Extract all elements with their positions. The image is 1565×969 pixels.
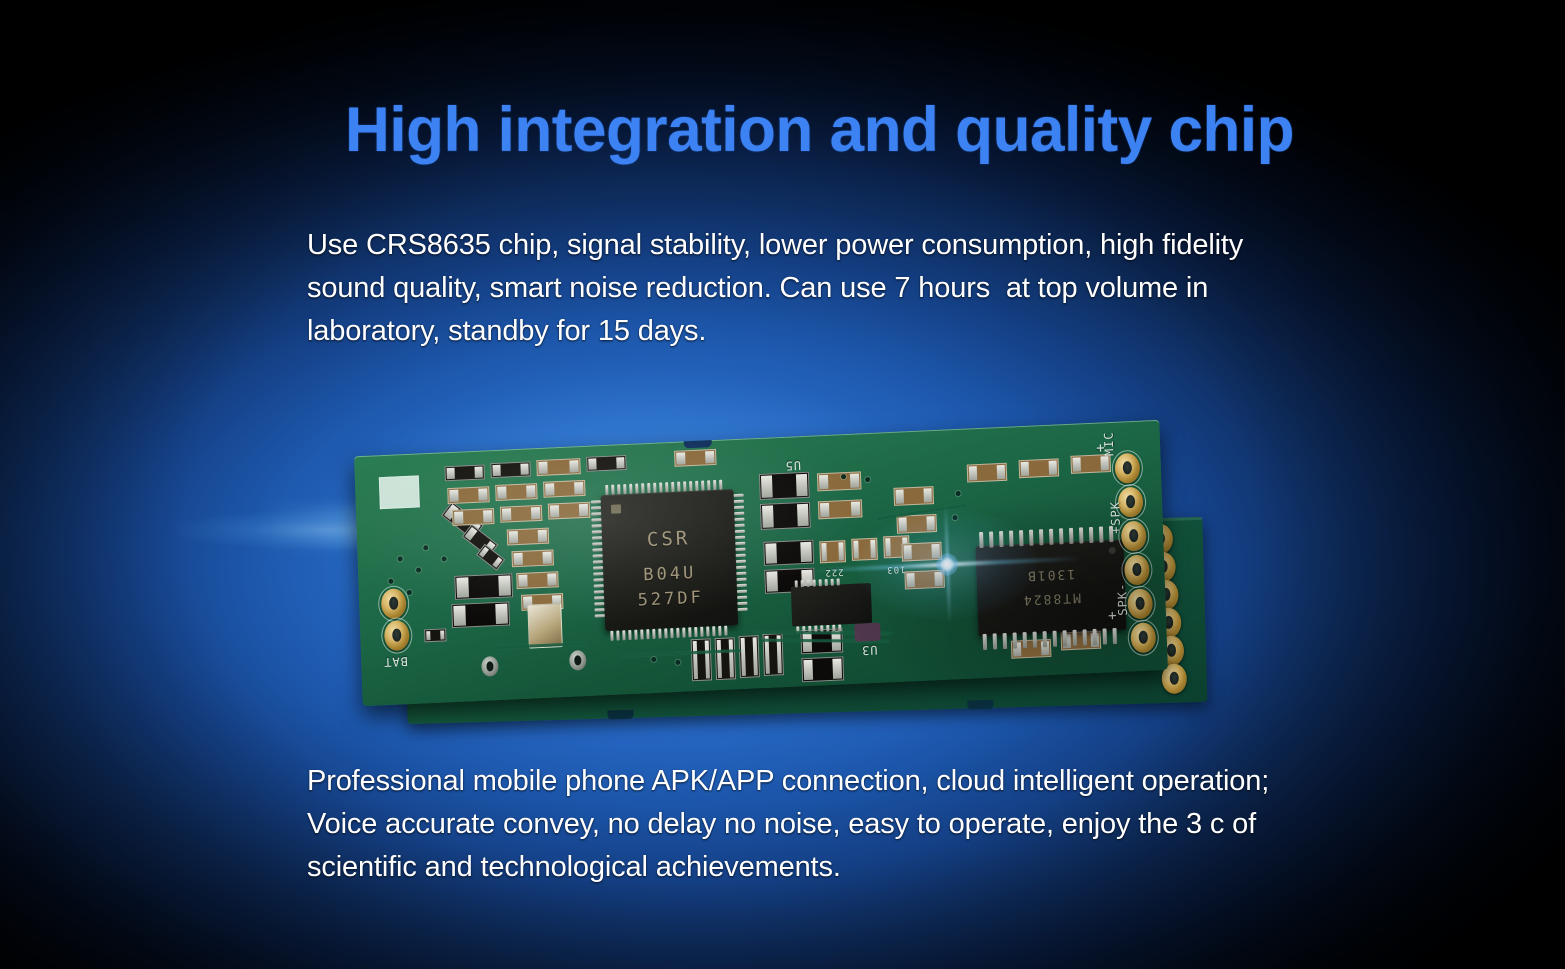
pcb-front-board: BAT CSR B04U 527DF (354, 420, 1168, 706)
smd-component (904, 570, 945, 590)
pin1-marker-icon (611, 504, 621, 513)
smd-component-large (451, 601, 510, 628)
smd-component (507, 528, 550, 546)
top-paragraph-line-1: Use CRS8635 chip, signal stability, lowe… (307, 224, 1317, 267)
smd-component (500, 505, 543, 523)
gold-pad-mic-plus (1114, 453, 1140, 484)
via (388, 579, 393, 584)
top-description-paragraph: Use CRS8635 chip, signal stability, lowe… (307, 224, 1317, 353)
bottom-paragraph-line-3: scientific and technological achievement… (307, 846, 1327, 889)
smd-component (818, 499, 863, 519)
smd-component (476, 544, 505, 571)
smd-component (817, 471, 862, 491)
via (956, 491, 961, 496)
smd-component (901, 542, 942, 562)
front-board-notch (684, 439, 712, 448)
smd-component (715, 637, 736, 680)
smd-component (674, 449, 717, 467)
smd-component (967, 463, 1008, 483)
smd-component (896, 514, 937, 534)
silkscreen-component-code: 103 (886, 563, 906, 574)
chip-marking-line-1: CSR (602, 525, 736, 553)
gold-pad-spk-minus (1127, 588, 1153, 619)
slide-canvas: High integration and quality chip Use CR… (0, 0, 1565, 969)
back-board-notch-left (607, 710, 633, 720)
gold-pad-spk-plus (1121, 521, 1147, 552)
smd-component (691, 638, 712, 681)
via (675, 660, 680, 665)
mounting-hole (569, 650, 587, 671)
smd-component-large (760, 502, 811, 530)
sop-marking-line-1: 1301B (976, 564, 1124, 586)
smd-component (536, 458, 581, 476)
silkscreen-spk-plus-label: +SPK (1108, 501, 1123, 535)
smd-component (739, 635, 760, 678)
silkscreen-u3-label: U3 (861, 643, 878, 658)
via (407, 590, 412, 595)
smd-component (543, 480, 586, 498)
smd-component-large (759, 472, 810, 500)
mounting-hole (481, 656, 499, 677)
specular-ray-vertical (944, 505, 951, 625)
silkscreen-bat-label: BAT (383, 654, 408, 669)
polarity-plus-icon: + (1096, 440, 1106, 456)
polarity-plus-icon-2: + (1108, 608, 1118, 624)
pcb-module-photo: 35_V1.1 (350, 408, 1250, 728)
smd-component (586, 455, 626, 472)
via (442, 556, 447, 561)
bottom-paragraph-line-1: Professional mobile phone APK/APP connec… (307, 760, 1327, 803)
silkscreen-u5-label: U5 (784, 458, 801, 473)
gold-pad-bat-plus (381, 588, 407, 619)
via (416, 567, 421, 572)
chip-marking-line-2: B04U (603, 561, 737, 587)
smd-component (1070, 454, 1111, 474)
bottom-description-paragraph: Professional mobile phone APK/APP connec… (307, 760, 1327, 889)
silk-test-pad (379, 475, 420, 509)
smd-component (893, 486, 934, 506)
gold-pad-bat-minus (384, 620, 410, 651)
smd-component (490, 461, 530, 478)
smd-component (444, 464, 484, 481)
smd-component (495, 483, 538, 501)
pin1-marker-icon (1109, 547, 1116, 554)
smd-component-large (801, 656, 844, 682)
back-board-notch-right (967, 700, 993, 710)
secondary-chip-mt8824: 1301B MT8824 (976, 540, 1127, 637)
via (952, 515, 957, 520)
top-paragraph-line-3: laboratory, standby for 15 days. (307, 310, 1317, 353)
smd-component (516, 571, 559, 589)
gold-pad-spk-minus-2 (1130, 622, 1156, 653)
smd-component-accent (854, 623, 881, 642)
smd-component (511, 549, 554, 567)
smd-component (819, 540, 846, 563)
smd-component (548, 502, 591, 520)
top-paragraph-line-2: sound quality, smart noise reduction. Ca… (307, 267, 1317, 310)
silkscreen-component-code: 222 (824, 566, 844, 577)
page-title: High integration and quality chip (345, 94, 1294, 166)
smd-component (424, 628, 446, 642)
inductor-component (527, 603, 563, 649)
smd-component (851, 538, 878, 561)
gold-pad-spk-plus-2 (1124, 554, 1150, 585)
via (865, 477, 870, 482)
smd-component (452, 508, 495, 526)
via (423, 545, 428, 550)
bottom-paragraph-line-2: Voice accurate convey, no delay no noise… (307, 803, 1327, 846)
main-chip-csr: CSR B04U 527DF (601, 489, 739, 631)
smd-component-large (763, 540, 814, 566)
sop-marking-line-2: MT8824 (977, 588, 1125, 610)
via (651, 657, 656, 662)
via (398, 556, 403, 561)
smd-component (447, 486, 490, 504)
chip-marking-line-3: 527DF (604, 586, 738, 612)
smd-component-large (454, 573, 513, 600)
soic8-chip (791, 583, 872, 627)
smd-component (1019, 458, 1060, 478)
